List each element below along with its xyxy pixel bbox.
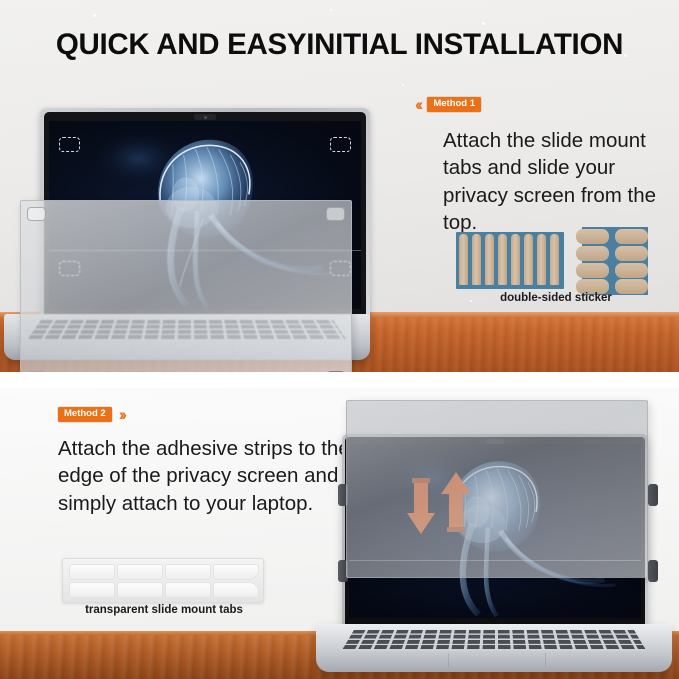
corner-marker-icon — [330, 137, 351, 152]
page-title: QUICK AND EASYINITIAL INSTALLATION — [0, 28, 679, 62]
hinge-right-lower — [648, 560, 658, 582]
corner-marker-icon — [59, 137, 80, 152]
method-2-instruction: Attach the adhesive strips to the edge o… — [58, 435, 358, 517]
panel-method-2: Method 2 ›› Attach the adhesive strips t… — [0, 388, 679, 679]
chevron-double-left-icon: ‹‹ — [415, 96, 420, 113]
laptop-device-bottom — [316, 392, 672, 678]
method-2-text-block: Method 2 ›› Attach the adhesive strips t… — [58, 406, 358, 517]
slide-mount-tab-icon — [326, 371, 345, 372]
tabs-caption: transparent slide mount tabs — [56, 604, 272, 616]
method-1-header: ‹‹ Method 1 — [415, 96, 671, 113]
sticker-pad-sheet — [576, 227, 654, 295]
privacy-screen-film-bottom[interactable] — [346, 400, 648, 578]
transparent-tabs-figure: transparent slide mount tabs — [62, 558, 272, 620]
slide-mount-tab-icon — [27, 371, 46, 372]
laptop-device-top — [4, 108, 370, 358]
slide-mount-tab-icon — [326, 207, 345, 221]
trackpad-bottom — [448, 653, 546, 667]
method-1-badge: Method 1 — [427, 97, 481, 111]
infographic-page: QUICK AND EASYINITIAL INSTALLATION — [0, 0, 679, 679]
privacy-screen-film-top[interactable] — [20, 200, 352, 372]
double-sided-sticker-figure: double-sided sticker — [448, 226, 664, 311]
webcam-icon — [194, 114, 216, 120]
method-1-text-block: ‹‹ Method 1 Attach the slide mount tabs … — [415, 96, 671, 236]
method-2-badge: Method 2 — [58, 407, 112, 421]
tabs-frame — [62, 558, 264, 603]
keyboard-bottom — [342, 630, 647, 651]
method-2-header: Method 2 ›› — [58, 406, 358, 423]
method-1-instruction: Attach the slide mount tabs and slide yo… — [415, 127, 671, 236]
hinge-right — [648, 484, 658, 506]
sticker-caption: double-sided sticker — [448, 292, 664, 304]
slide-mount-tab-icon — [27, 207, 46, 221]
sticker-strip-sheet — [456, 232, 564, 289]
panel-method-1: QUICK AND EASYINITIAL INSTALLATION — [0, 0, 679, 372]
laptop-base-bottom — [316, 624, 672, 672]
chevron-double-right-icon: ›› — [119, 406, 124, 423]
